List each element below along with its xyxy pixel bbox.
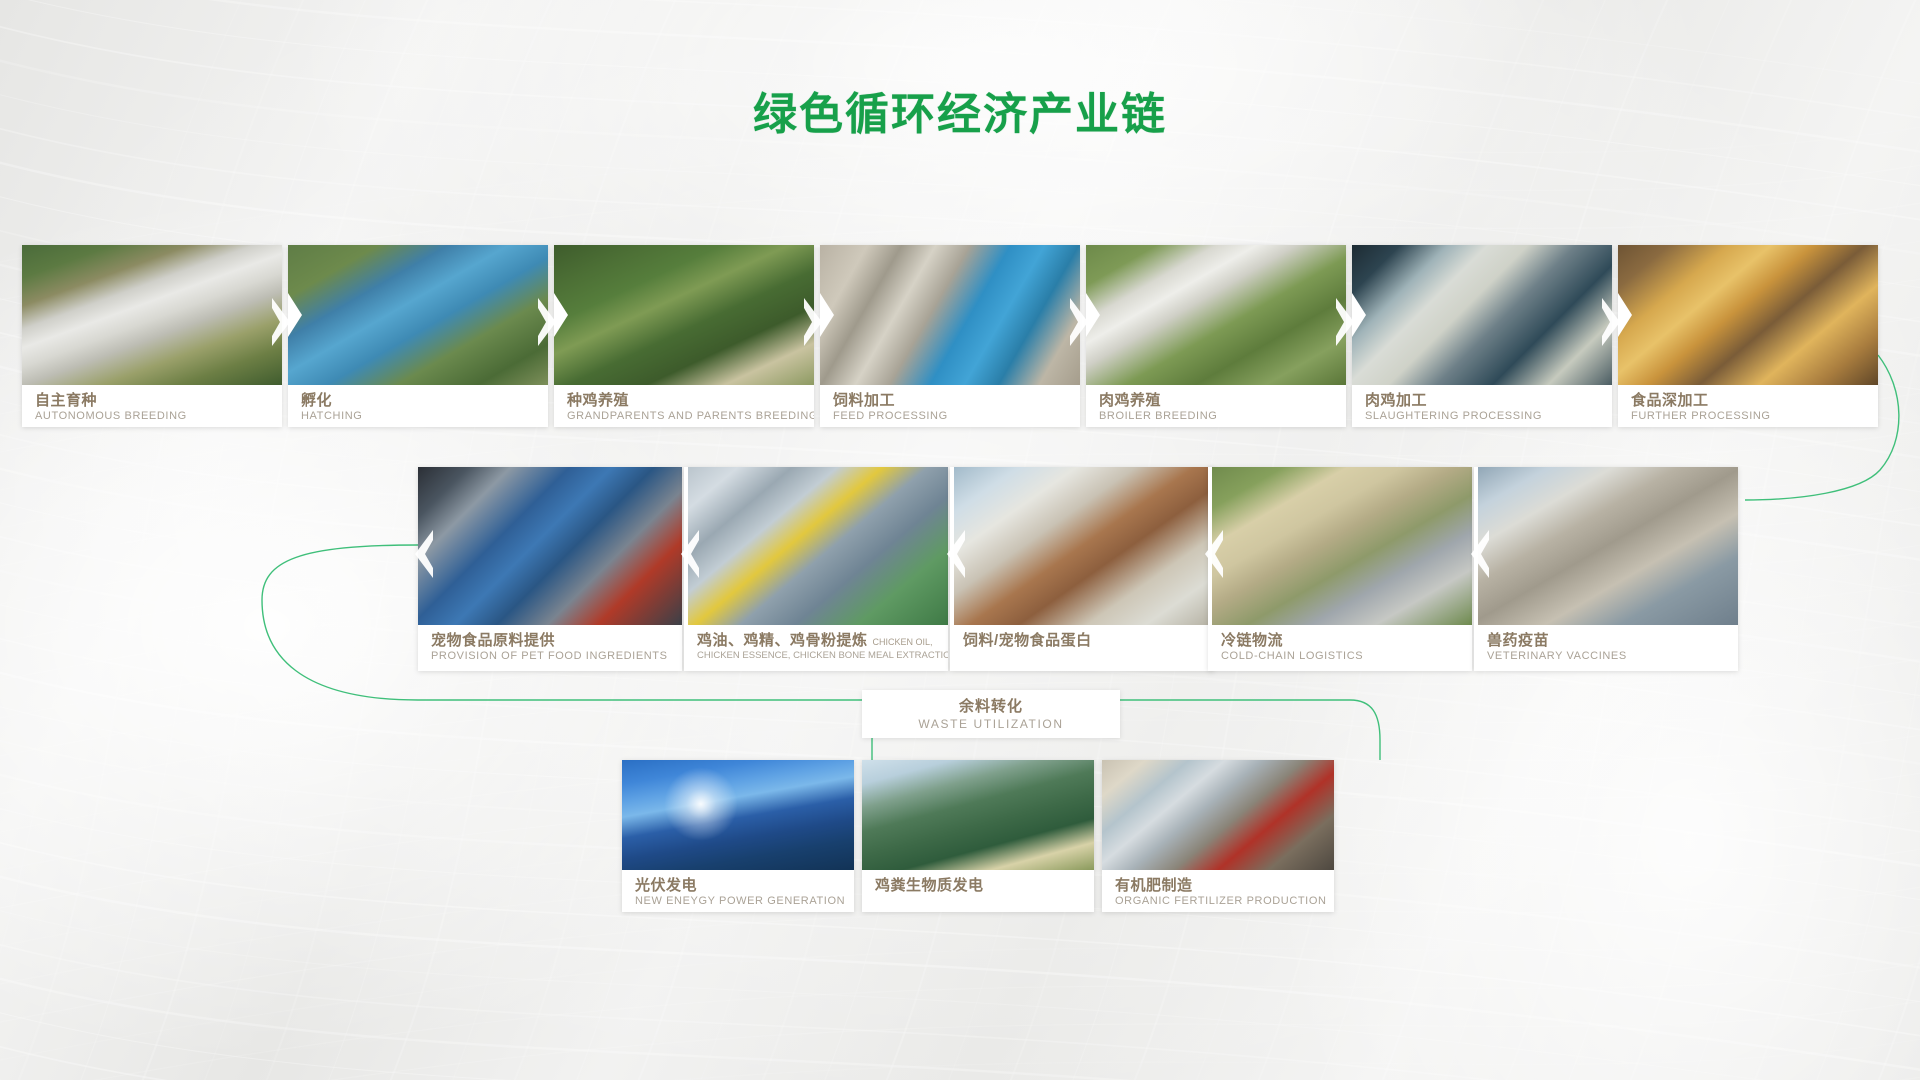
caption-en: AUTONOMOUS BREEDING xyxy=(35,410,282,424)
card-photo xyxy=(862,760,1094,870)
flow-arrow-left-icon xyxy=(1195,475,1225,633)
poultry-slaughter-line-interior-image xyxy=(1352,245,1612,385)
card-caption: 鸡粪生物质发电 xyxy=(862,870,1094,912)
caption-cn: 孵化 xyxy=(301,392,548,409)
fried-food-further-processing-line-image xyxy=(1618,245,1878,385)
card-photo xyxy=(1102,760,1334,870)
card-photo xyxy=(1208,467,1472,625)
card-caption: 兽药疫苗VETERINARY VACCINES xyxy=(1474,625,1738,671)
card-photo xyxy=(684,467,948,625)
caption-en: SLAUGHTERING PROCESSING xyxy=(1365,410,1612,424)
flow-arrow-left-icon xyxy=(937,475,967,633)
caption-cn: 宠物食品原料提供 xyxy=(431,632,682,649)
caption-cn: 冷链物流 xyxy=(1221,632,1472,649)
flow-arrow-right-icon xyxy=(1334,252,1364,392)
card-caption: 肉鸡加工SLAUGHTERING PROCESSING xyxy=(1352,385,1612,427)
process-card: 肉鸡加工SLAUGHTERING PROCESSING xyxy=(1352,245,1612,427)
card-caption: 有机肥制造ORGANIC FERTILIZER PRODUCTION xyxy=(1102,870,1334,912)
rendering-plant-blue-drum-machinery-image xyxy=(418,467,682,625)
flow-arrow-right-icon xyxy=(802,252,832,392)
flow-arrow-right-icon xyxy=(536,252,566,392)
waste-utilization-en: WASTE UTILIZATION xyxy=(862,717,1120,731)
caption-en: FURTHER PROCESSING xyxy=(1631,410,1878,424)
caption-en: HATCHING xyxy=(301,410,548,424)
card-caption: 鸡油、鸡精、鸡骨粉提炼CHICKEN OIL,CHICKEN ESSENCE, … xyxy=(684,625,948,671)
caption-cn: 肉鸡加工 xyxy=(1365,392,1612,409)
aerial-blue-roof-hatchery-buildings-image xyxy=(288,245,548,385)
process-card: 肉鸡养殖BROILER BREEDING xyxy=(1086,245,1346,427)
caption-en: GRANDPARENTS AND PARENTS BREEDING xyxy=(567,410,814,424)
caption-cn: 兽药疫苗 xyxy=(1487,632,1738,649)
card-caption: 种鸡养殖GRANDPARENTS AND PARENTS BREEDING xyxy=(554,385,814,427)
feed-mill-silos-blue-tower-image xyxy=(820,245,1080,385)
aerial-white-roof-breeding-houses-hillside-image xyxy=(22,245,282,385)
process-card: 饲料加工FEED PROCESSING xyxy=(820,245,1080,427)
process-card: 鸡油、鸡精、鸡骨粉提炼CHICKEN OIL,CHICKEN ESSENCE, … xyxy=(684,467,948,671)
caption-en: COLD-CHAIN LOGISTICS xyxy=(1221,650,1472,664)
card-photo xyxy=(1086,245,1346,385)
caption-cn: 有机肥制造 xyxy=(1115,877,1334,894)
flow-arrow-left-icon xyxy=(1461,475,1491,633)
veterinary-vaccine-facility-building-image xyxy=(1474,467,1738,625)
chicken-oil-extraction-plant-interior-image xyxy=(684,467,948,625)
process-card: 孵化HATCHING xyxy=(288,245,548,427)
card-caption: 冷链物流COLD-CHAIN LOGISTICS xyxy=(1208,625,1472,671)
caption-cn: 饲料加工 xyxy=(833,392,1080,409)
aerial-cold-chain-warehouse-highway-image xyxy=(1208,467,1472,625)
fertilizer-warehouse-sacks-loader-image xyxy=(1102,760,1334,870)
caption-cn: 光伏发电 xyxy=(635,877,854,894)
waste-utilization-banner: 余料转化 WASTE UTILIZATION xyxy=(862,690,1120,738)
card-caption: 食品深加工FURTHER PROCESSING xyxy=(1618,385,1878,427)
caption-cn: 种鸡养殖 xyxy=(567,392,814,409)
caption-en: BROILER BREEDING xyxy=(1099,410,1346,424)
caption-en: ORGANIC FERTILIZER PRODUCTION xyxy=(1115,895,1334,909)
card-caption: 宠物食品原料提供PROVISION OF PET FOOD INGREDIENT… xyxy=(418,625,682,671)
process-card: 种鸡养殖GRANDPARENTS AND PARENTS BREEDING xyxy=(554,245,814,427)
card-photo xyxy=(22,245,282,385)
process-card: 有机肥制造ORGANIC FERTILIZER PRODUCTION xyxy=(1102,760,1334,912)
card-photo xyxy=(1618,245,1878,385)
flow-arrow-right-icon xyxy=(270,252,300,392)
card-caption: 肉鸡养殖BROILER BREEDING xyxy=(1086,385,1346,427)
flow-arrow-left-icon xyxy=(671,475,701,633)
process-card: 食品深加工FURTHER PROCESSING xyxy=(1618,245,1878,427)
caption-en: NEW ENEYGY POWER GENERATION xyxy=(635,895,854,909)
card-caption: 自主育种AUTONOMOUS BREEDING xyxy=(22,385,282,427)
process-card: 饲料/宠物食品蛋白 xyxy=(950,467,1214,671)
caption-cn: 自主育种 xyxy=(35,392,282,409)
caption-cn: 饲料/宠物食品蛋白 xyxy=(963,632,1214,649)
caption-en: VETERINARY VACCINES xyxy=(1487,650,1738,664)
card-photo xyxy=(1352,245,1612,385)
card-caption: 饲料/宠物食品蛋白 xyxy=(950,625,1214,671)
process-card: 冷链物流COLD-CHAIN LOGISTICS xyxy=(1208,467,1472,671)
card-photo xyxy=(622,760,854,870)
card-photo xyxy=(554,245,814,385)
caption-cn: 肉鸡养殖 xyxy=(1099,392,1346,409)
caption-cn: 食品深加工 xyxy=(1631,392,1878,409)
card-caption: 饲料加工FEED PROCESSING xyxy=(820,385,1080,427)
process-card: 兽药疫苗VETERINARY VACCINES xyxy=(1474,467,1738,671)
process-card: 宠物食品原料提供PROVISION OF PET FOOD INGREDIENT… xyxy=(418,467,682,671)
caption-cn: 鸡粪生物质发电 xyxy=(875,877,1094,894)
aerial-green-roof-barns-forest-valley-image xyxy=(554,245,814,385)
card-photo xyxy=(1474,467,1738,625)
caption-en: FEED PROCESSING xyxy=(833,410,1080,424)
caption-cn-inline-en: CHICKEN OIL, xyxy=(873,637,933,647)
card-photo xyxy=(418,467,682,625)
process-card: 自主育种AUTONOMOUS BREEDING xyxy=(22,245,282,427)
card-photo xyxy=(820,245,1080,385)
card-caption: 光伏发电NEW ENEYGY POWER GENERATION xyxy=(622,870,854,912)
flow-arrow-left-icon xyxy=(405,475,435,633)
caption-cn: 鸡油、鸡精、鸡骨粉提炼CHICKEN OIL, xyxy=(697,632,948,649)
card-photo xyxy=(950,467,1214,625)
page-title: 绿色循环经济产业链 xyxy=(0,78,1920,142)
process-card: 光伏发电NEW ENEYGY POWER GENERATION xyxy=(622,760,854,912)
flow-arrow-right-icon xyxy=(1068,252,1098,392)
solar-panel-array-sunburst-sky-image xyxy=(622,760,854,870)
protein-plant-buildings-exterior-image xyxy=(950,467,1214,625)
caption-en: PROVISION OF PET FOOD INGREDIENTS xyxy=(431,650,682,664)
card-photo xyxy=(288,245,548,385)
aerial-broiler-houses-farmland-image xyxy=(1086,245,1346,385)
card-caption: 孵化HATCHING xyxy=(288,385,548,427)
flow-arrow-right-icon xyxy=(1600,252,1630,392)
waste-utilization-cn: 余料转化 xyxy=(862,695,1120,716)
process-card: 鸡粪生物质发电 xyxy=(862,760,1094,912)
caption-en: CHICKEN ESSENCE, CHICKEN BONE MEAL EXTRA… xyxy=(697,650,948,662)
biomass-power-plant-green-hills-image xyxy=(862,760,1094,870)
